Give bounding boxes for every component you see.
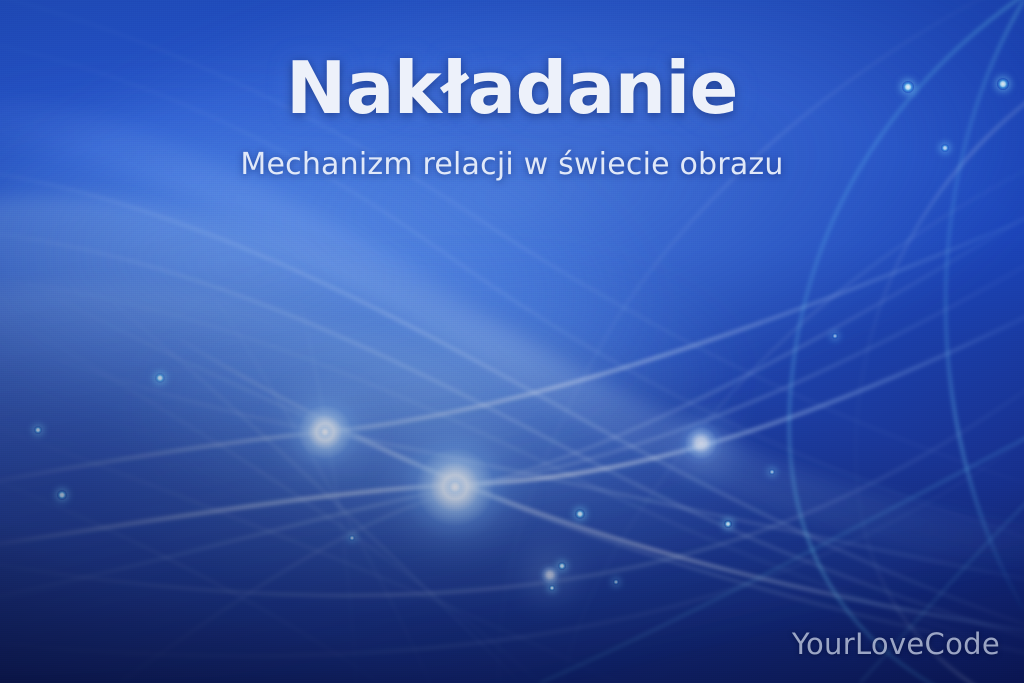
particle-dot <box>769 469 775 475</box>
center-flare-halo <box>355 387 555 587</box>
particle-dot <box>575 509 585 519</box>
page-subtitle: Mechanizm relacji w świecie obrazu <box>0 148 1024 183</box>
particle-dot <box>558 562 566 570</box>
center-flare-hotspot <box>443 475 467 499</box>
particle-dot <box>57 490 67 500</box>
left-flare-halo <box>250 357 400 507</box>
mid-right-flare-halo <box>650 392 760 502</box>
bottom-flare <box>537 562 563 588</box>
left-flare <box>287 394 363 470</box>
particle-dot <box>613 579 619 585</box>
bottom-flare-halo <box>495 520 605 630</box>
left-flare-hotspot <box>316 423 334 441</box>
particle-dot <box>549 585 555 591</box>
title-block: Nakładanie Mechanizm relacji w świecie o… <box>0 52 1024 183</box>
watermark-label: YourLoveCode <box>792 627 1000 661</box>
particle-dot <box>832 333 838 339</box>
center-flare <box>400 432 510 542</box>
particle-dot <box>349 535 355 541</box>
title-slide: Nakładanie Mechanizm relacji w świecie o… <box>0 0 1024 683</box>
particle-dot <box>724 520 732 528</box>
particle-dot <box>155 373 165 383</box>
mid-right-flare <box>678 420 724 466</box>
page-title: Nakładanie <box>0 52 1024 124</box>
background-ribbon-lower <box>47 168 1024 678</box>
particle-dot <box>34 426 42 434</box>
